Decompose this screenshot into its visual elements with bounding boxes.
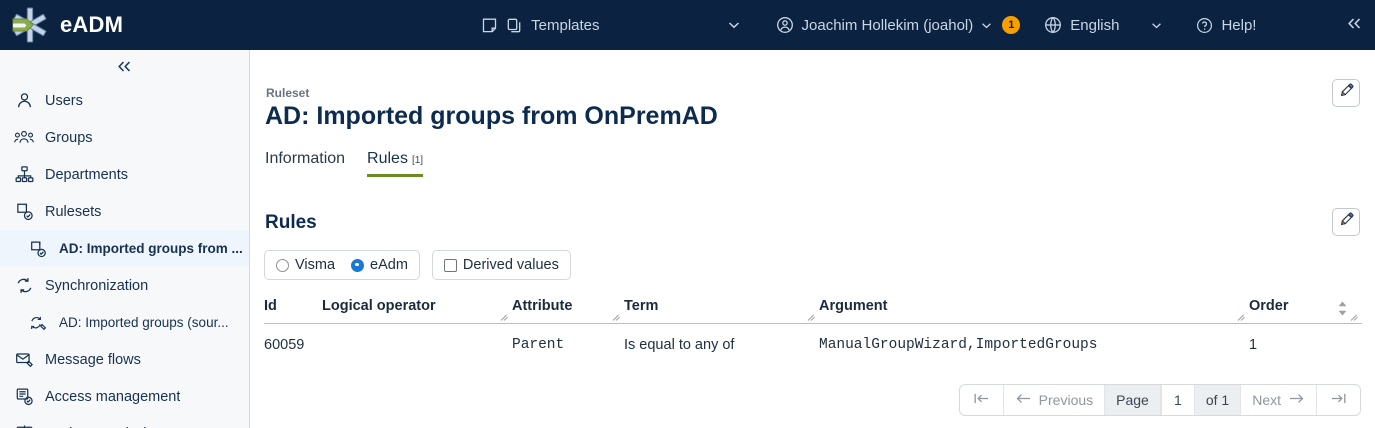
user-name-label: Joachim Hollekim (joahol)	[802, 17, 974, 34]
radio-eadm[interactable]: eAdm	[351, 257, 408, 273]
first-page-button[interactable]	[960, 385, 1004, 415]
chevron-down-icon	[728, 18, 740, 32]
column-resize-handle[interactable]	[808, 313, 817, 322]
derived-values-group: Derived values	[432, 250, 571, 280]
column-header-term[interactable]: Term	[624, 298, 819, 324]
permissions-icon	[14, 424, 34, 428]
tab-bar: Information Rules [1]	[265, 150, 423, 177]
checkbox-derived-values[interactable]: Derived values	[444, 257, 559, 273]
sidebar-item-departments[interactable]: Departments	[0, 156, 249, 193]
sidebar-item-ad-imported-groups-source[interactable]: AD: Imported groups (sour...	[0, 304, 249, 341]
edit-rules-button[interactable]	[1332, 208, 1360, 236]
sidebar-item-label: Message flows	[45, 352, 141, 368]
total-pages-text: of 1	[1206, 392, 1229, 408]
chevron-down-icon	[981, 18, 992, 32]
envelope-tag-icon	[14, 350, 34, 370]
radio-label: eAdm	[370, 257, 408, 273]
arrow-right-icon	[1288, 392, 1305, 408]
section-title: Rules	[265, 212, 317, 234]
cell-logical-operator	[322, 324, 512, 366]
top-navigation-bar: eADM Templates	[0, 0, 1375, 50]
radio-visma[interactable]: Visma	[276, 257, 335, 273]
last-page-button[interactable]	[1317, 385, 1360, 415]
sidebar-item-label: AD: Imported groups from ...	[59, 241, 243, 256]
globe-icon	[1044, 16, 1062, 34]
cell-argument: ManualGroupWizard,ImportedGroups	[819, 324, 1249, 366]
list-check-icon	[14, 387, 34, 407]
last-page-icon	[1330, 392, 1347, 408]
column-header-logical-operator[interactable]: Logical operator	[322, 298, 512, 324]
edit-ruleset-button[interactable]	[1332, 79, 1360, 107]
column-label: Order	[1249, 298, 1289, 314]
sidebar-item-access-management[interactable]: Access management	[0, 378, 249, 415]
column-label: Logical operator	[322, 298, 436, 314]
column-header-attribute[interactable]: Attribute	[512, 298, 624, 324]
page-label: Page	[1105, 385, 1161, 415]
chevron-down-icon	[1151, 18, 1162, 32]
brand[interactable]: eADM	[0, 5, 123, 45]
sidebar: Users Groups D	[0, 50, 250, 428]
column-header-id[interactable]: Id	[264, 298, 322, 324]
sync-tag-icon	[28, 313, 48, 333]
next-label: Next	[1252, 392, 1281, 408]
column-label: Attribute	[512, 298, 572, 314]
column-header-order[interactable]: Order	[1249, 298, 1362, 324]
filter-controls: Visma eAdm Derived values	[264, 250, 571, 280]
templates-menu[interactable]: Templates	[475, 0, 745, 50]
collapse-panel-icon[interactable]	[1346, 15, 1375, 35]
sync-arrows-icon	[14, 276, 34, 296]
sidebar-item-groups[interactable]: Groups	[0, 119, 249, 156]
language-label: English	[1070, 17, 1119, 34]
ruleset-check-icon	[14, 202, 34, 222]
sidebar-item-label: Groups	[45, 130, 93, 146]
brand-name: eADM	[60, 12, 123, 38]
sidebar-item-label: Access management	[45, 389, 180, 405]
main-content: Ruleset AD: Imported groups from OnPremA…	[251, 50, 1375, 428]
notification-badge[interactable]: 1	[1002, 16, 1020, 34]
question-circle-icon	[1196, 17, 1213, 34]
total-pages-label: of 1	[1195, 385, 1241, 415]
sidebar-item-synchronization[interactable]: Synchronization	[0, 267, 249, 304]
page-number-value: 1	[1174, 392, 1182, 408]
breadcrumb: Ruleset	[266, 86, 309, 100]
column-resize-handle[interactable]	[1351, 313, 1360, 322]
checkbox-unchecked-icon	[444, 259, 457, 272]
org-chart-icon	[14, 165, 34, 185]
sort-indicator-icon[interactable]	[1337, 301, 1348, 316]
source-radio-group: Visma eAdm	[264, 250, 420, 280]
snowflake-logo-icon	[10, 5, 50, 45]
cell-order: 1	[1249, 324, 1362, 366]
previous-label: Previous	[1039, 392, 1093, 408]
table-row[interactable]: 60059 Parent Is equal to any of ManualGr…	[264, 324, 1362, 366]
tab-count: [1]	[412, 155, 423, 166]
cell-id: 60059	[264, 324, 322, 366]
next-page-button[interactable]: Next	[1241, 385, 1317, 415]
sidebar-item-label: Synchronization	[45, 278, 148, 294]
column-label: Argument	[819, 298, 887, 314]
tab-information[interactable]: Information	[265, 150, 345, 177]
page-label-text: Page	[1116, 392, 1149, 408]
user-icon	[14, 91, 34, 111]
templates-label: Templates	[531, 17, 599, 34]
checkbox-label: Derived values	[463, 257, 559, 273]
rules-table: Id Logical operator Attribute Term	[264, 298, 1362, 365]
tab-label: Rules	[367, 150, 408, 168]
pencil-icon	[1339, 212, 1354, 232]
arrow-left-icon	[1015, 392, 1032, 408]
tab-label: Information	[265, 150, 345, 168]
sidebar-item-users[interactable]: Users	[0, 82, 249, 119]
help-button[interactable]: Help!	[1190, 0, 1262, 50]
column-label: Id	[264, 298, 277, 314]
sidebar-item-label: Rulesets	[45, 204, 101, 220]
table-header-row: Id Logical operator Attribute Term	[264, 298, 1362, 324]
radio-label: Visma	[295, 257, 335, 273]
sidebar-item-label: AD: Imported groups (sour...	[59, 315, 229, 330]
pagination: Previous Page 1 of 1 Next	[959, 384, 1361, 416]
radio-selected-icon	[351, 259, 364, 272]
column-label: Term	[624, 298, 658, 314]
document-icon	[481, 17, 498, 34]
sidebar-item-assign-permissions[interactable]: Assign permissions	[0, 415, 249, 428]
cell-attribute: Parent	[512, 324, 624, 366]
help-label: Help!	[1221, 17, 1256, 34]
column-resize-handle[interactable]	[613, 313, 622, 322]
sidebar-item-rulesets[interactable]: Rulesets	[0, 193, 249, 230]
cell-term: Is equal to any of	[624, 324, 819, 366]
column-resize-handle[interactable]	[1238, 313, 1247, 322]
column-resize-handle[interactable]	[501, 313, 510, 322]
page-title: AD: Imported groups from OnPremAD	[265, 102, 718, 131]
rules-table-container: Id Logical operator Attribute Term	[264, 298, 1362, 365]
sidebar-item-ad-imported-groups-ruleset[interactable]: AD: Imported groups from ...	[0, 230, 249, 267]
sidebar-collapse-icon[interactable]	[0, 50, 249, 82]
copy-icon	[506, 17, 523, 34]
tab-rules[interactable]: Rules [1]	[367, 150, 423, 177]
radio-unselected-icon	[276, 259, 289, 272]
sidebar-item-message-flows[interactable]: Message flows	[0, 341, 249, 378]
column-header-argument[interactable]: Argument	[819, 298, 1249, 324]
page-number-input[interactable]: 1	[1161, 385, 1195, 415]
users-group-icon	[14, 128, 34, 148]
user-menu[interactable]: Joachim Hollekim (joahol) 1	[770, 0, 1027, 50]
first-page-icon	[973, 392, 990, 408]
pencil-icon	[1339, 83, 1354, 103]
sidebar-item-label: Users	[45, 93, 83, 109]
sidebar-item-label: Departments	[45, 167, 128, 183]
previous-page-button[interactable]: Previous	[1004, 385, 1105, 415]
language-menu[interactable]: English	[1038, 0, 1168, 50]
ruleset-check-icon	[28, 239, 48, 259]
application-window: eADM Templates	[0, 0, 1375, 428]
user-circle-icon	[776, 16, 794, 34]
